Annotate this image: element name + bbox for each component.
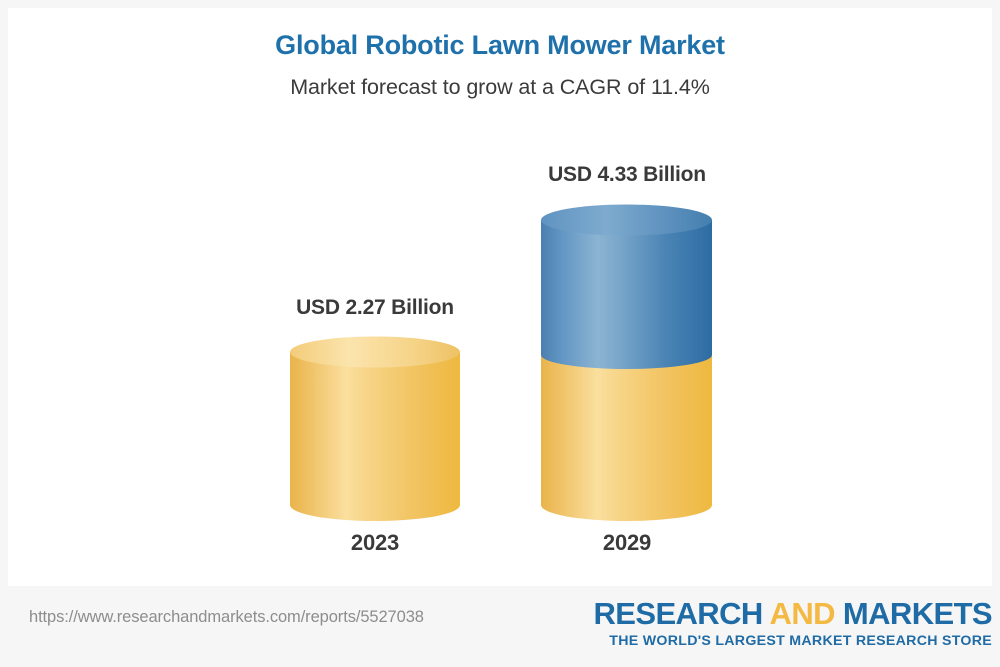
brand-logo-tagline: THE WORLD'S LARGEST MARKET RESEARCH STOR… <box>594 634 993 648</box>
footer: https://www.researchandmarkets.com/repor… <box>0 586 1000 667</box>
brand-logo-wordmark: RESEARCH AND MARKETS <box>594 598 993 629</box>
value-label-2029: USD 4.33 Billion <box>467 163 787 187</box>
source-url-link[interactable]: https://www.researchandmarkets.com/repor… <box>29 608 424 627</box>
infographic-root: Global Robotic Lawn Mower Market Market … <box>0 0 1000 667</box>
plot-area: USD 2.27 Billion 2023 <box>0 0 1000 600</box>
brand-logo-markets: MARKETS <box>835 596 992 631</box>
value-label-2023: USD 2.27 Billion <box>215 296 535 320</box>
brand-logo-research: RESEARCH <box>594 596 770 631</box>
bar-2023[interactable]: USD 2.27 Billion 2023 <box>290 0 460 600</box>
cylinder-2029-graphic <box>541 0 712 600</box>
bar-2029[interactable]: USD 4.33 Billion 2029 <box>541 0 712 600</box>
category-label-2029: 2029 <box>467 530 787 556</box>
brand-logo-and: AND <box>770 596 835 631</box>
brand-logo[interactable]: RESEARCH AND MARKETS THE WORLD'S LARGEST… <box>594 598 993 648</box>
